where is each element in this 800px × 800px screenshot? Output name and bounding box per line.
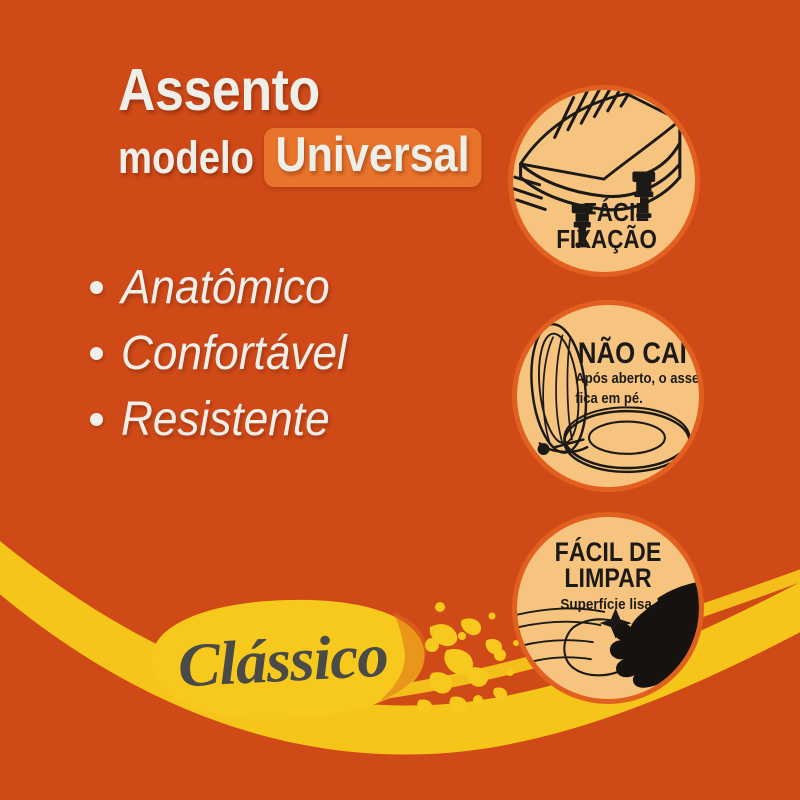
hand-wiping-icon: [517, 517, 699, 699]
list-item: Resistente: [90, 394, 366, 446]
product-advertisement: Assento modelo Universal Anatômico Confo…: [0, 0, 800, 800]
badge-facil-fixacao: FÁCIL FIXAÇÃO: [508, 85, 700, 277]
list-item: Confortável: [90, 328, 366, 380]
headline-secondary: modelo Universal: [118, 128, 518, 187]
bullet-dot-icon: [90, 413, 103, 426]
feature-label: Resistente: [121, 394, 330, 446]
headline-modelo-word: modelo: [118, 135, 254, 180]
headline-universal-badge: Universal: [264, 128, 481, 187]
feature-label: Anatômico: [121, 262, 330, 314]
badge-facil-de-limpar: FÁCIL DE LIMPAR Superfície lisa.: [512, 512, 704, 704]
bolt-right: [632, 172, 655, 218]
toilet-seat-bolts-icon: [513, 90, 695, 272]
brand-name: Clássico: [177, 625, 390, 698]
bullet-dot-icon: [90, 347, 103, 360]
feature-label: Confortável: [121, 328, 347, 380]
bullet-dot-icon: [90, 281, 103, 294]
open-seat-lid-icon: [517, 305, 699, 487]
list-item: Anatômico: [90, 262, 366, 314]
hand-silhouette: [610, 581, 699, 687]
paint-splatter: [417, 602, 519, 713]
headline-block: Assento modelo Universal: [118, 62, 518, 187]
headline-primary: Assento: [118, 62, 470, 120]
badge-nao-cai: NÃO CAI Após aberto, o assento fica em p…: [512, 300, 704, 492]
feature-list: Anatômico Confortável Resistente: [90, 262, 366, 459]
brand-logo: Clássico: [143, 622, 423, 700]
bolt-left: [572, 204, 593, 248]
